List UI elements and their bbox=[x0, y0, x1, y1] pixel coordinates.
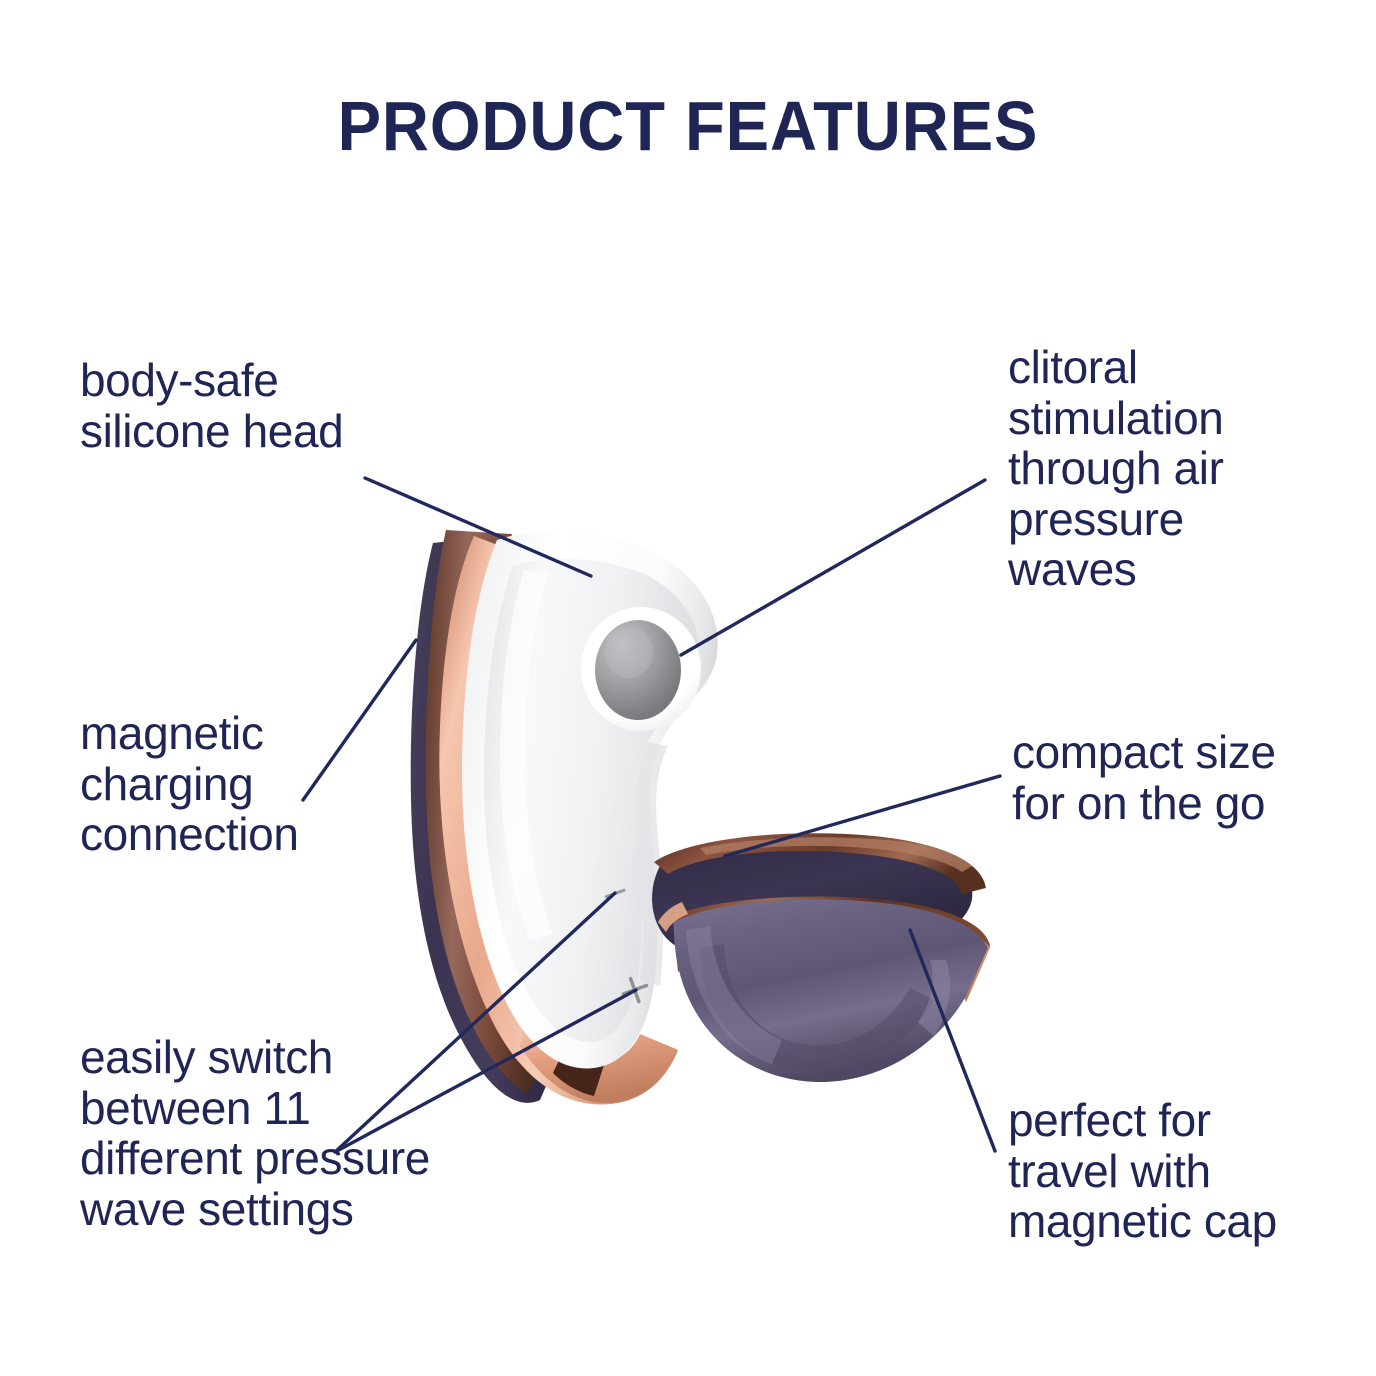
head-specular-highlight bbox=[500, 570, 553, 940]
product-features-infographic: PRODUCT FEATURES bbox=[0, 0, 1376, 1376]
cap-rose-gold-edge bbox=[920, 916, 990, 1002]
cap-back-rim bbox=[654, 833, 986, 894]
leader-magnetic-charging bbox=[303, 640, 416, 800]
air-nozzle-opening bbox=[595, 620, 681, 720]
head-neck-shading bbox=[635, 742, 668, 986]
callout-pressure-wave-settings: easily switch between 11 different press… bbox=[80, 1032, 430, 1234]
silicone-head bbox=[462, 531, 718, 1068]
cap-rim-specular bbox=[700, 837, 972, 872]
nozzle-inner-highlight bbox=[605, 626, 653, 678]
leader-compact-size bbox=[725, 776, 1000, 856]
brown-metallic-band bbox=[426, 530, 546, 1093]
callout-clitoral-stimulation: clitoral stimulation through air pressur… bbox=[1008, 342, 1224, 595]
body-edge-highlight bbox=[408, 600, 540, 1098]
bottom-brown-accent bbox=[553, 1043, 605, 1096]
decrease-intensity-button[interactable] bbox=[604, 888, 626, 898]
purple-body-shell bbox=[411, 536, 556, 1103]
silicone-face-panel bbox=[484, 559, 699, 1042]
leader-magnetic-cap bbox=[910, 930, 995, 1151]
callout-body-safe-silicone-head: body-safe silicone head bbox=[80, 355, 343, 456]
device-main-body bbox=[408, 530, 718, 1104]
magnetic-cap bbox=[652, 833, 990, 1082]
cap-outer-shell bbox=[674, 899, 988, 1082]
callout-travel-magnetic-cap: perfect for travel with magnetic cap bbox=[1008, 1095, 1277, 1247]
cap-right-highlight bbox=[918, 960, 950, 1036]
cap-left-highlight bbox=[686, 926, 782, 1064]
leader-clitoral-stimulation bbox=[681, 480, 985, 655]
cap-body-gap-trim bbox=[658, 902, 688, 932]
rose-gold-trim bbox=[439, 536, 678, 1104]
page-title: PRODUCT FEATURES bbox=[48, 86, 1328, 166]
cap-interior bbox=[652, 843, 972, 967]
cap-front-rim bbox=[672, 897, 990, 1002]
callout-magnetic-charging-connection: magnetic charging connection bbox=[80, 708, 299, 860]
cap-edge-dark-notch bbox=[894, 910, 948, 976]
callout-compact-size: compact size for on the go bbox=[1012, 727, 1276, 828]
leader-body-safe bbox=[365, 478, 591, 576]
increase-intensity-button[interactable] bbox=[621, 976, 648, 1003]
nozzle-outer-ring bbox=[581, 607, 701, 731]
rose-gold-bottom-band bbox=[520, 1018, 676, 1103]
cap-shadow-band bbox=[700, 944, 934, 1072]
